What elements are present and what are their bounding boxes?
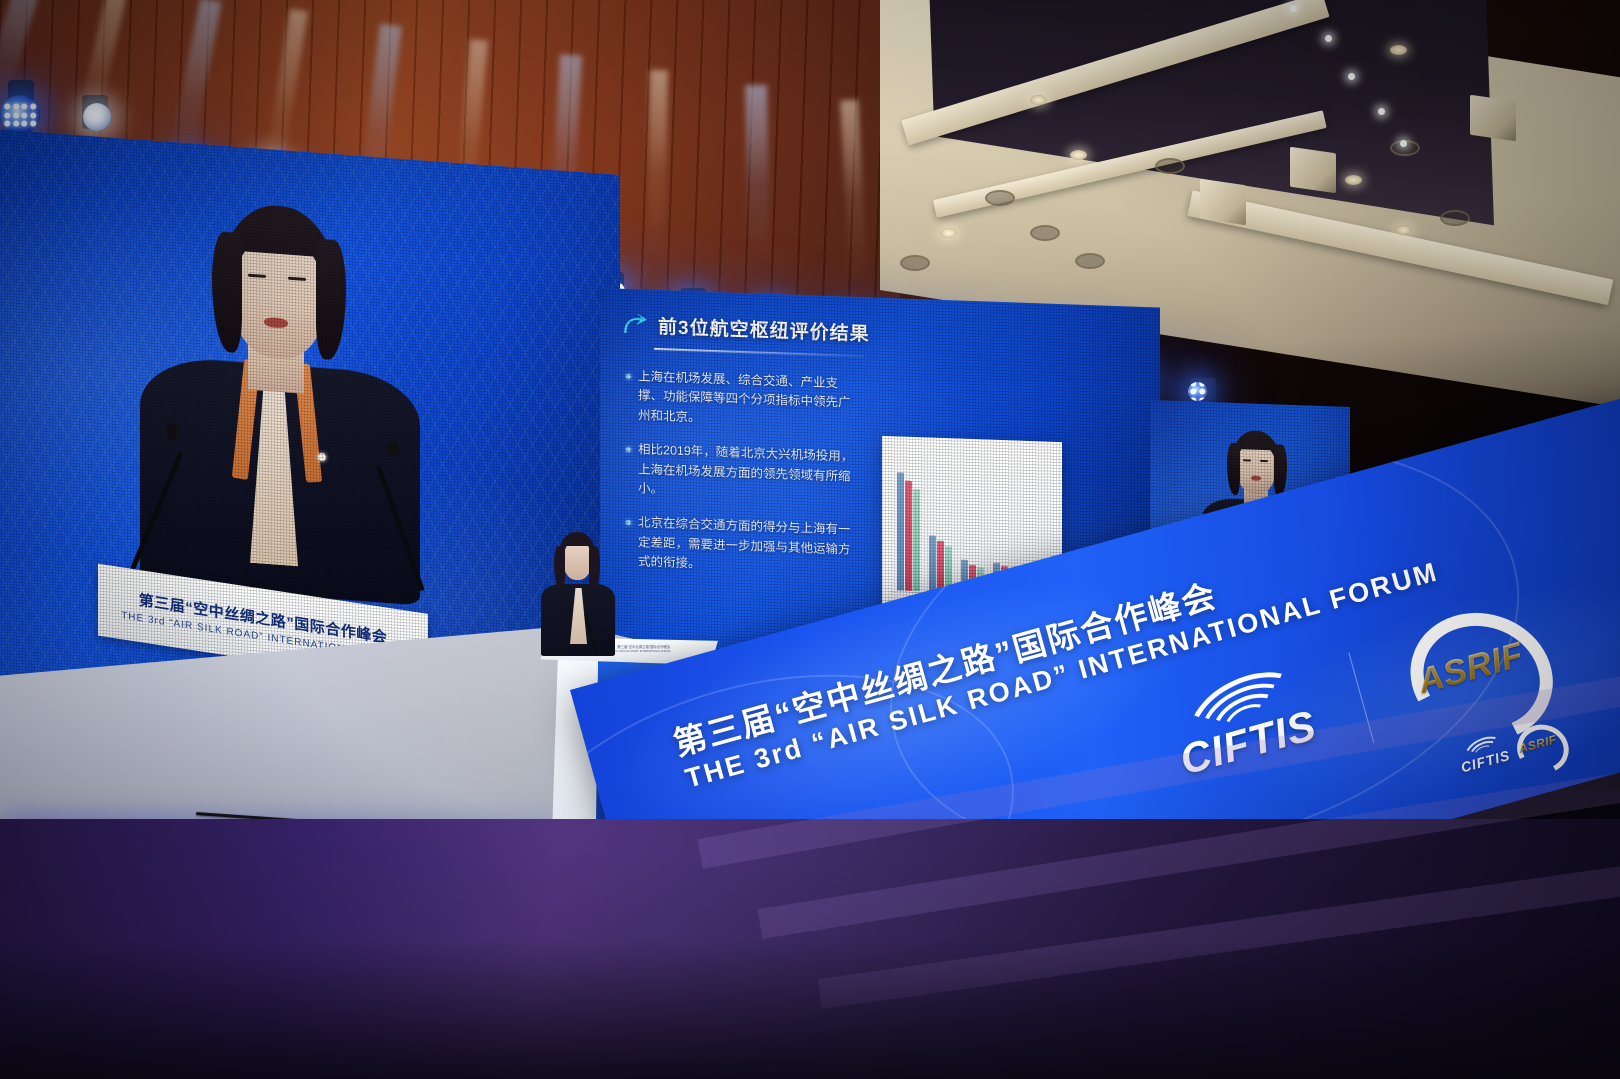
conference-stage-photo: 第三届“空中丝绸之路”国际合作峰会 THE 3rd “AIR SILK ROAD… [0, 0, 1620, 1079]
bullet-dot-icon [626, 374, 631, 379]
floor-foreground-shadow [0, 939, 1620, 1079]
ceiling-ring-fixture [985, 190, 1015, 206]
white-spot-light [83, 103, 111, 131]
microphone-head [166, 424, 178, 441]
ceiling-sparkle [1325, 35, 1332, 42]
slide-bullet-text: 相比2019年，随着北京大兴机场投用，上海在机场发展方面的领先领域有所缩小。 [638, 440, 858, 506]
ceiling-light-box [1290, 147, 1336, 193]
ceiling-ring-fixture [1030, 225, 1060, 241]
bullet-dot-icon [626, 447, 631, 452]
ceiling-light-box [1200, 179, 1246, 225]
ceiling-sparkle [1348, 73, 1355, 80]
slide-bullet-text: 上海在机场发展、综合交通、产业支撑、功能保障等四个分项指标中领先广州和北京。 [638, 367, 858, 433]
recessed-downlight [940, 228, 957, 238]
chart-bar [905, 481, 912, 591]
chart-bar [897, 473, 904, 591]
ceiling-ring-fixture [1075, 253, 1105, 269]
ceiling-sparkle [1290, 5, 1297, 12]
recessed-downlight [1390, 45, 1407, 55]
ceiling-sparkle [1378, 108, 1385, 115]
recessed-downlight [1030, 95, 1047, 105]
curved-arrow-icon [622, 312, 648, 337]
bar-group [929, 535, 952, 592]
podium-plate-en: THE 3rd “AIR SILK ROAD” INTERNATIONAL FO… [608, 650, 670, 654]
recessed-downlight [1070, 150, 1087, 160]
blue-par-light [1188, 382, 1207, 401]
slide-bullet-item: 相比2019年，随着北京大兴机场投用，上海在机场发展方面的领先领域有所缩小。 [626, 440, 858, 506]
recessed-downlight [1345, 175, 1362, 185]
slide-bullet-item: 上海在机场发展、综合交通、产业支撑、功能保障等四个分项指标中领先广州和北京。 [626, 367, 858, 433]
ceiling-ring-fixture [900, 255, 930, 271]
chart-bar [913, 489, 920, 592]
ceiling-sparkle [1400, 140, 1407, 147]
podium-plate-text: 第三届“空中丝绸之路”国际合作峰会 THE 3rd “AIR SILK ROAD… [608, 645, 670, 654]
chart-bar [937, 541, 944, 592]
slide-bullet-item: 北京在综合交通方面的得分与上海有一定差距，需要进一步加强与其他运输方式的衔接。 [626, 513, 858, 579]
ceiling-ring-fixture [1440, 210, 1470, 226]
ceiling-ring-fixture [1155, 158, 1185, 174]
bullet-dot-icon [626, 520, 631, 525]
chart-bar [929, 535, 936, 592]
slide-bullet-list: 上海在机场发展、综合交通、产业支撑、功能保障等四个分项指标中领先广州和北京。 相… [626, 367, 858, 594]
slide-bullet-text: 北京在综合交通方面的得分与上海有一定差距，需要进一步加强与其他运输方式的衔接。 [638, 514, 858, 580]
microphone-head [388, 440, 400, 457]
recessed-downlight [1395, 225, 1412, 235]
ceiling-light-box [1470, 95, 1516, 141]
bar-group [897, 473, 920, 592]
